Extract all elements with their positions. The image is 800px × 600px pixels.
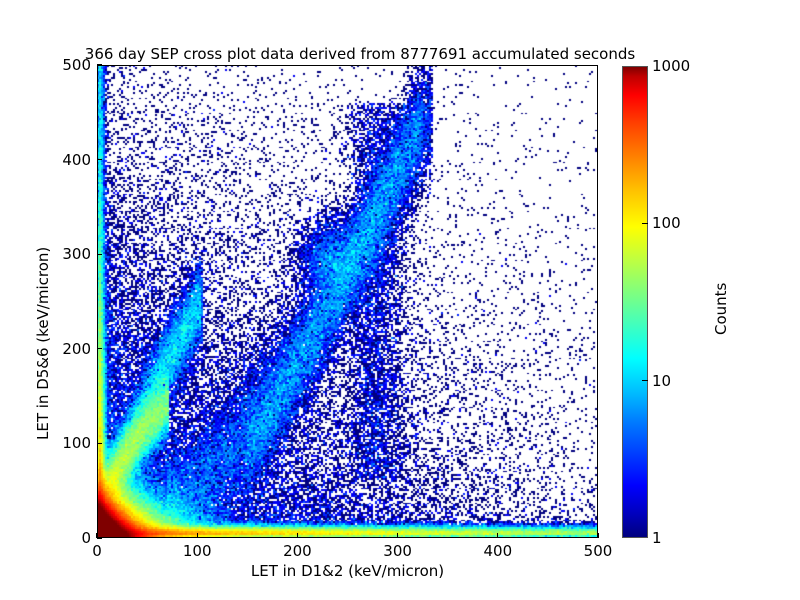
colorbar-tick-label: 1000 xyxy=(652,57,690,75)
x-axis-label: LET in D1&2 (keV/micron) xyxy=(97,562,598,580)
y-tick-mark xyxy=(97,348,102,349)
title-line-1: 366 day SEP cross plot data derived from… xyxy=(0,45,720,64)
x-tick-mark xyxy=(297,533,298,538)
colorbar-tick-label: 10 xyxy=(652,372,671,390)
y-axis-label: LET in D5&6 (keV/micron) xyxy=(34,247,52,440)
plot-axes xyxy=(97,65,598,538)
colorbar-tick-label: 1 xyxy=(652,529,662,547)
x-tick-label: 300 xyxy=(383,542,412,560)
y-tick-mark xyxy=(97,159,102,160)
y-tick-mark xyxy=(97,64,102,65)
scatter-heatmap-data xyxy=(98,66,597,537)
colorbar-label: Counts xyxy=(712,283,730,335)
x-tick-label: 200 xyxy=(283,542,312,560)
y-tick-label: 0 xyxy=(51,529,91,547)
x-tick-label: 500 xyxy=(584,542,613,560)
y-tick-mark xyxy=(97,443,102,444)
y-tick-label: 300 xyxy=(51,245,91,263)
x-tick-mark xyxy=(397,533,398,538)
x-tick-label: 100 xyxy=(183,542,212,560)
x-tick-label: 400 xyxy=(483,542,512,560)
y-tick-label: 500 xyxy=(51,56,91,74)
x-tick-mark xyxy=(497,533,498,538)
colorbar-tick-mark xyxy=(642,380,648,381)
y-tick-label: 100 xyxy=(51,434,91,452)
figure-canvas: 366 day SEP cross plot data derived from… xyxy=(0,0,800,600)
x-tick-mark xyxy=(597,533,598,538)
x-tick-label: 0 xyxy=(92,542,102,560)
colorbar-gradient xyxy=(622,66,648,538)
x-tick-mark xyxy=(197,533,198,538)
y-tick-mark xyxy=(97,537,102,538)
y-tick-label: 200 xyxy=(51,340,91,358)
colorbar-tick-label: 100 xyxy=(652,214,681,232)
colorbar-tick-mark xyxy=(642,223,648,224)
y-tick-mark xyxy=(97,254,102,255)
y-tick-label: 400 xyxy=(51,151,91,169)
